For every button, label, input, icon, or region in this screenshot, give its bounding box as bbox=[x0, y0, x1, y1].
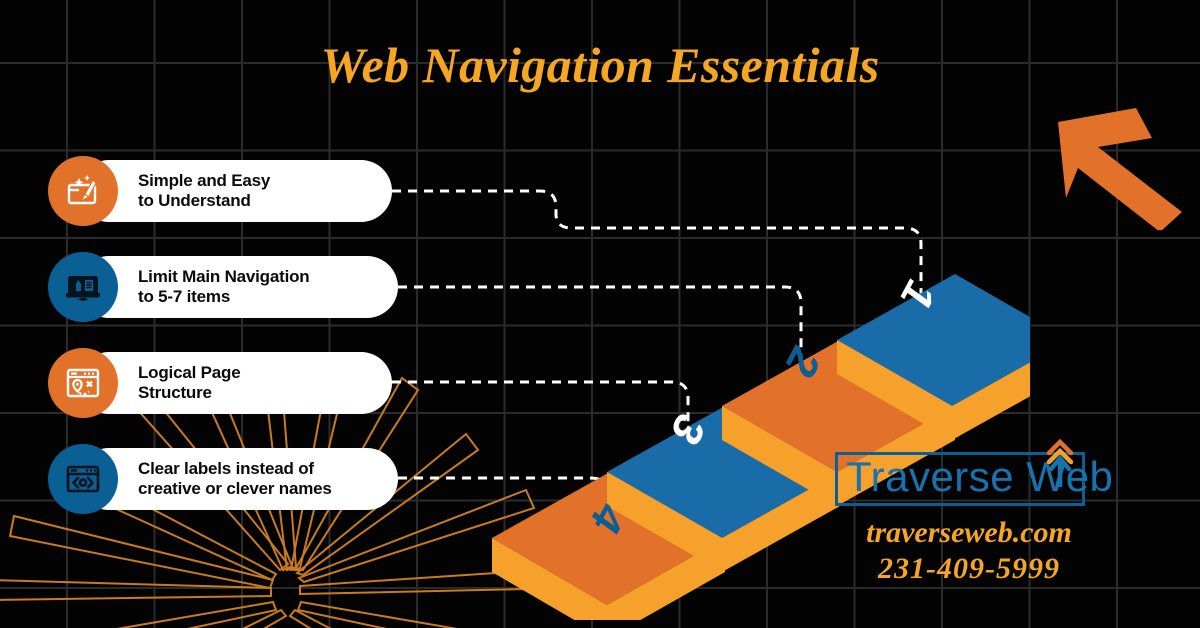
tip-label-4-line2: creative or clever names bbox=[138, 479, 332, 499]
tip-bubble-1 bbox=[48, 156, 118, 226]
website-url[interactable]: traverseweb.com bbox=[835, 516, 1103, 550]
tip-label-3: Logical Page Structure bbox=[138, 363, 254, 403]
infographic-canvas: Web Navigation Essentials bbox=[0, 0, 1200, 628]
tip-label-1: Simple and Easy to Understand bbox=[138, 171, 284, 211]
tip-label-1-line1: Simple and Easy bbox=[138, 171, 270, 191]
tip-label-3-line2: Structure bbox=[138, 383, 240, 403]
tip-card-2[interactable]: Limit Main Navigation to 5-7 items bbox=[78, 256, 398, 318]
tip-card-4[interactable]: Clear labels instead of creative or clev… bbox=[78, 448, 398, 510]
tip-bubble-4 bbox=[48, 444, 118, 514]
sitemap-pin-icon bbox=[63, 363, 103, 403]
tip-label-2-line2: to 5-7 items bbox=[138, 287, 309, 307]
tip-label-3-line1: Logical Page bbox=[138, 363, 240, 383]
tip-label-1-line2: to Understand bbox=[138, 191, 270, 211]
tip-card-3[interactable]: Logical Page Structure bbox=[78, 352, 392, 414]
up-chevrons-icon bbox=[1043, 437, 1077, 489]
tip-bubble-2 bbox=[48, 252, 118, 322]
code-window-icon bbox=[63, 459, 103, 499]
tip-label-4: Clear labels instead of creative or clev… bbox=[138, 459, 346, 499]
tip-label-2-line1: Limit Main Navigation bbox=[138, 267, 309, 287]
logo-frame: Traverse Web bbox=[835, 452, 1085, 506]
tip-bubble-3 bbox=[48, 348, 118, 418]
tip-card-1[interactable]: Simple and Easy to Understand bbox=[78, 160, 392, 222]
desktop-monitor-icon bbox=[63, 267, 103, 307]
tip-label-2: Limit Main Navigation to 5-7 items bbox=[138, 267, 323, 307]
phone-number[interactable]: 231-409-5999 bbox=[835, 552, 1103, 586]
brand-block: Traverse Web traverseweb.com 231-409-599… bbox=[835, 452, 1115, 586]
tip-label-4-line1: Clear labels instead of bbox=[138, 459, 332, 479]
design-brush-icon bbox=[63, 171, 103, 211]
